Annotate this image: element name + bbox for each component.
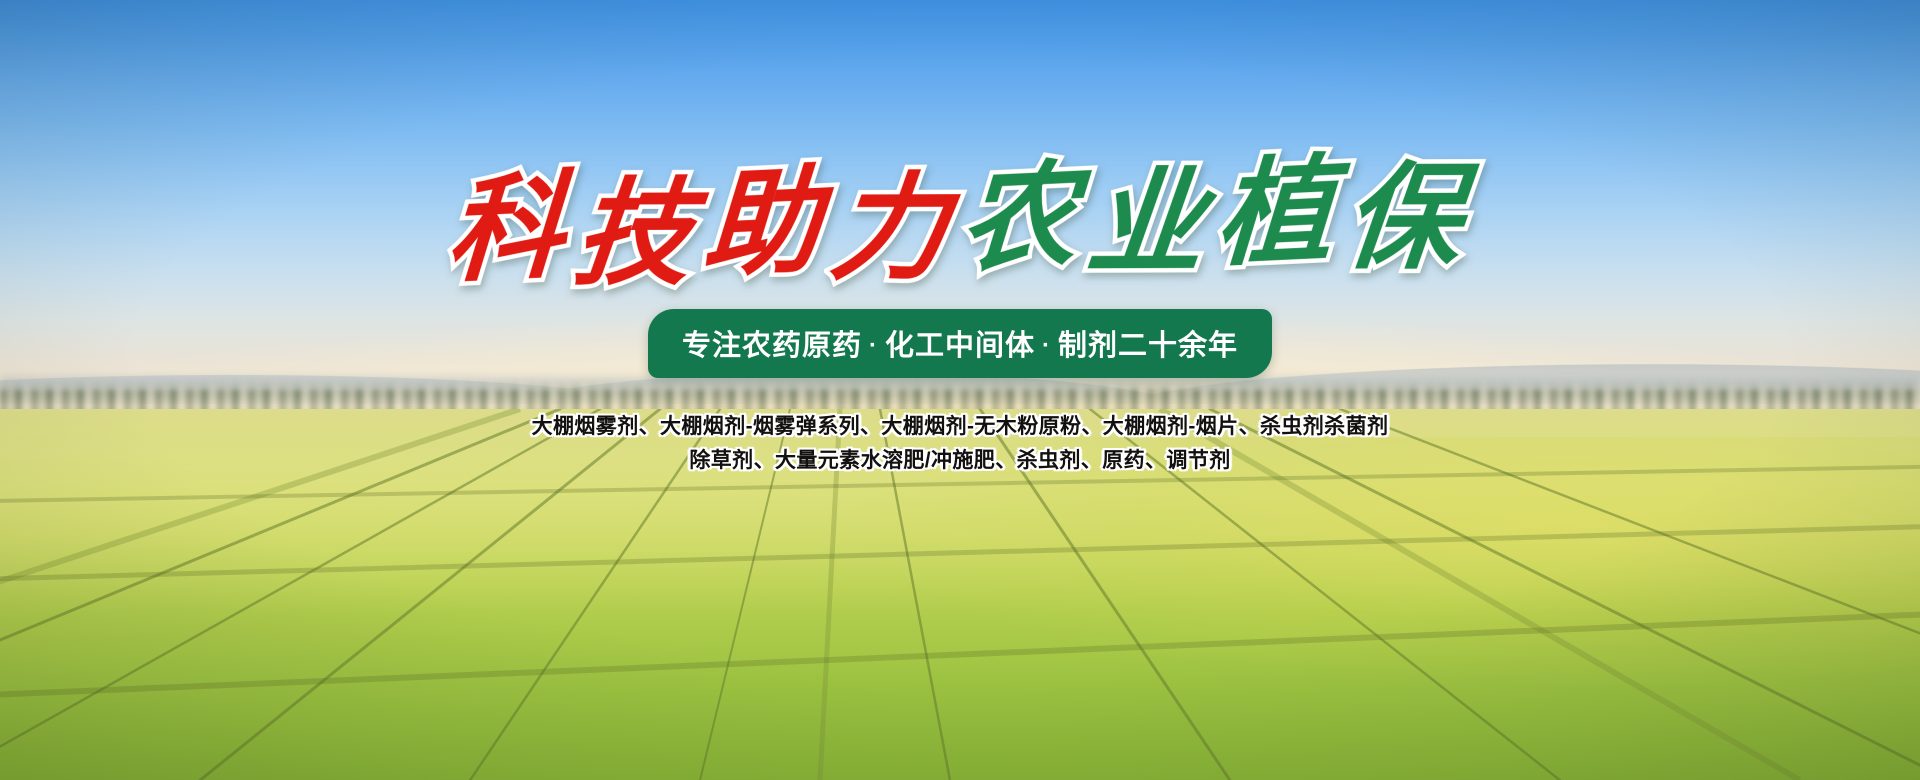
title-char-ke: 科 (444, 169, 579, 291)
title-char-ye: 业 (1082, 167, 1222, 283)
title-char-zhi: 植 (1213, 153, 1348, 275)
description-line-1: 大棚烟雾剂、大棚烟剂-烟雾弹系列、大棚烟剂-无木粉原粉、大棚烟剂-烟片、杀虫剂杀… (0, 410, 1920, 444)
title-char-li: 力 (826, 172, 966, 288)
hero-banner: 科技助力农业植保 专注农药原药·化工中间体·制剂二十余年 大棚烟雾剂、大棚烟剂-… (0, 0, 1920, 780)
title-char-nong: 农 (957, 159, 1092, 281)
description-line-2: 除草剂、大量元素水溶肥/冲施肥、杀虫剂、原药、调节剂 (0, 444, 1920, 478)
subtitle-badge: 专注农药原药·化工中间体·制剂二十余年 (648, 309, 1272, 378)
badge-part-3: 制剂二十余年 (1058, 330, 1238, 362)
headline-title: 科技助力农业植保 (442, 157, 1478, 294)
subtitle-badge-wrap: 专注农药原药·化工中间体·制剂二十余年 (0, 309, 1920, 378)
badge-separator-icon-2: · (1035, 332, 1058, 359)
badge-part-1: 专注农药原药 (682, 330, 862, 362)
title-char-zhu: 助 (700, 164, 835, 286)
title-char-bao: 保 (1339, 161, 1479, 277)
title-char-ji: 技 (569, 177, 709, 293)
headline-block: 科技助力农业植保 (0, 168, 1920, 284)
badge-separator-icon-1: · (862, 332, 885, 359)
badge-part-2: 化工中间体 (885, 330, 1035, 362)
product-description: 大棚烟雾剂、大棚烟剂-烟雾弹系列、大棚烟剂-无木粉原粉、大棚烟剂-烟片、杀虫剂杀… (0, 410, 1920, 478)
